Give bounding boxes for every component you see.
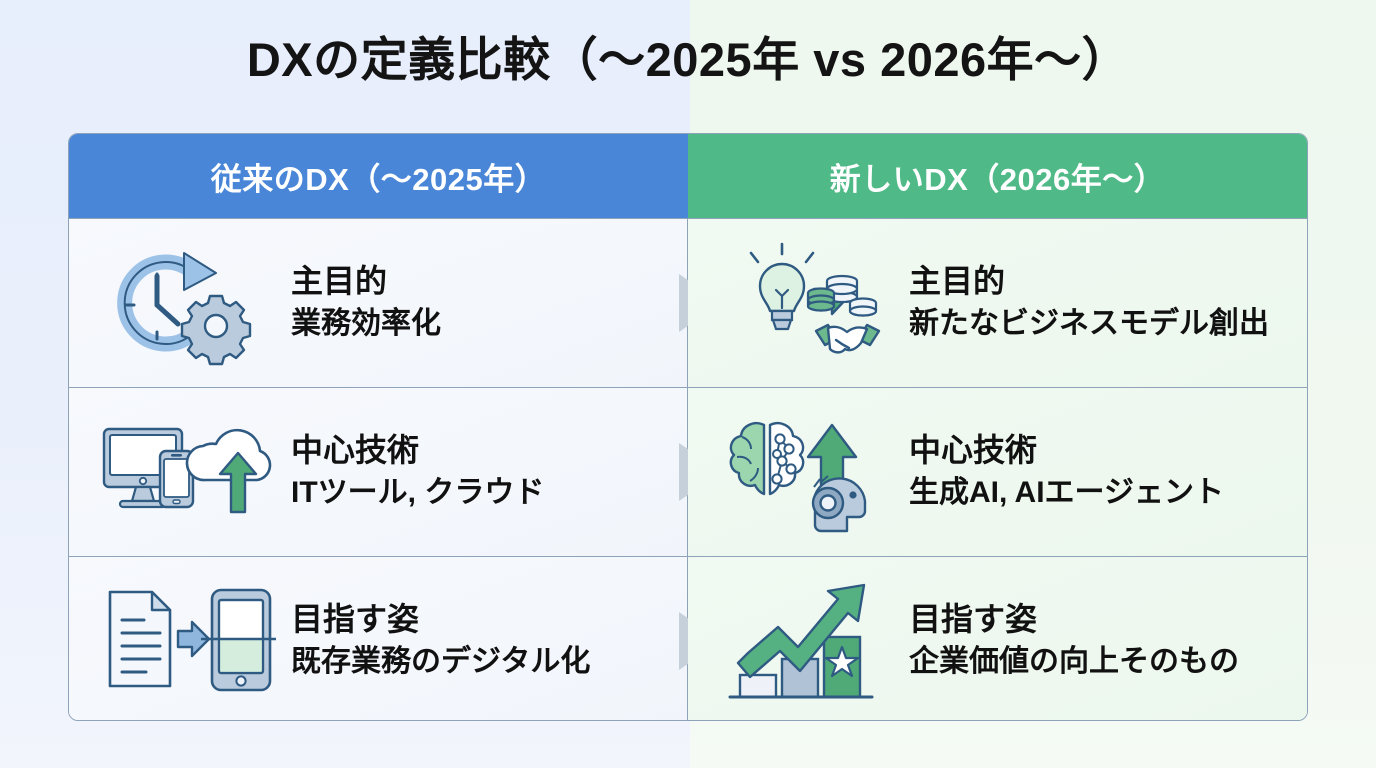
- table-row: 主目的 業務効率化: [69, 218, 1307, 387]
- cell-new-goal: 目指す姿 企業価値の向上そのもの: [688, 557, 1307, 721]
- table-row: 目指す姿 既存業務のデジタル化: [69, 556, 1307, 721]
- row-label: 中心技術: [909, 430, 1224, 471]
- new-technology-text: 中心技術 生成AI, AIエージェント: [909, 430, 1224, 513]
- table-row: 中心技術 ITツール, クラウド: [69, 387, 1307, 556]
- new-purpose-text: 主目的 新たなビジネスモデル創出: [909, 261, 1269, 344]
- lightbulb-arrow-coins-handshake-icon: [720, 238, 895, 368]
- cell-legacy-purpose: 主目的 業務効率化: [69, 219, 688, 387]
- table-header-row: 従来のDX（〜2025年） 新しいDX（2026年〜）: [69, 134, 1307, 218]
- comparison-table: 従来のDX（〜2025年） 新しいDX（2026年〜）: [68, 133, 1308, 721]
- cell-new-purpose: 主目的 新たなビジネスモデル創出: [688, 219, 1307, 387]
- document-arrow-tablet-icon: [97, 576, 277, 706]
- monitor-phone-cloud-upload-icon: [97, 407, 277, 537]
- row-value: 既存業務のデジタル化: [291, 642, 590, 682]
- slide-canvas: DXの定義比較（〜2025年 vs 2026年〜） 従来のDX（〜2025年） …: [0, 0, 1376, 768]
- brain-network-arrow-robot-head-icon: [720, 407, 895, 537]
- header-legacy-dx: 従来のDX（〜2025年）: [69, 134, 688, 218]
- legacy-purpose-text: 主目的 業務効率化: [291, 261, 441, 344]
- row-label: 目指す姿: [291, 599, 590, 640]
- row-value: ITツール, クラウド: [291, 473, 544, 513]
- row-label: 目指す姿: [909, 599, 1239, 640]
- page-title: DXの定義比較（〜2025年 vs 2026年〜）: [0, 32, 1376, 88]
- clock-gear-icon: [97, 238, 277, 368]
- growth-bar-chart-arrow-star-icon: [720, 576, 895, 706]
- header-new-dx: 新しいDX（2026年〜）: [688, 134, 1307, 218]
- row-label: 主目的: [909, 261, 1269, 302]
- legacy-technology-text: 中心技術 ITツール, クラウド: [291, 430, 544, 513]
- cell-legacy-goal: 目指す姿 既存業務のデジタル化: [69, 557, 688, 721]
- new-goal-text: 目指す姿 企業価値の向上そのもの: [909, 599, 1239, 682]
- row-value: 新たなビジネスモデル創出: [909, 304, 1269, 344]
- legacy-goal-text: 目指す姿 既存業務のデジタル化: [291, 599, 590, 682]
- row-value: 業務効率化: [291, 304, 441, 344]
- row-value: 生成AI, AIエージェント: [909, 473, 1224, 513]
- cell-new-technology: 中心技術 生成AI, AIエージェント: [688, 388, 1307, 556]
- row-label: 主目的: [291, 261, 441, 302]
- cell-legacy-technology: 中心技術 ITツール, クラウド: [69, 388, 688, 556]
- row-value: 企業価値の向上そのもの: [909, 642, 1239, 682]
- row-label: 中心技術: [291, 430, 544, 471]
